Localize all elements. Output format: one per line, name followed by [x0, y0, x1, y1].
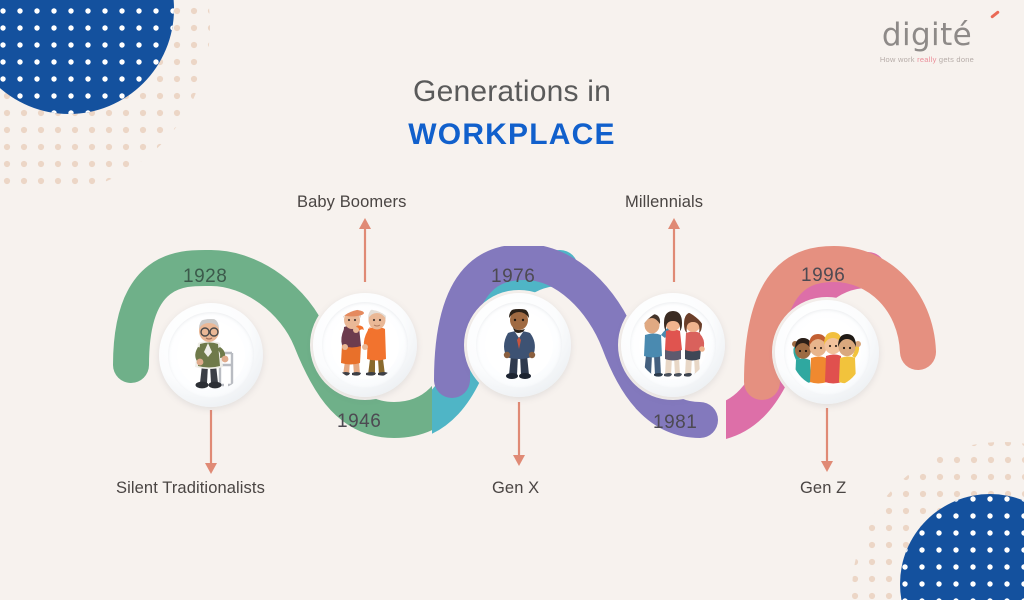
label-millennials: Millennials	[625, 193, 703, 212]
year-label-millennials: 1981	[653, 412, 697, 434]
arrow-gen-x	[506, 402, 532, 468]
label-silent-traditionalists: Silent Traditionalists	[116, 479, 265, 498]
year-label-baby-boomers: 1946	[337, 411, 381, 433]
arrow-baby-boomers	[352, 216, 378, 282]
medallion-baby-boomers[interactable]	[313, 293, 417, 397]
medallion-gen-x[interactable]	[467, 293, 571, 397]
businessman-in-suit-icon	[483, 309, 555, 381]
label-gen-x: Gen X	[492, 479, 539, 498]
medallion-silent-traditionalists[interactable]	[159, 303, 263, 407]
elderly-couple-icon	[329, 309, 401, 381]
label-gen-z: Gen Z	[800, 479, 846, 498]
elderly-man-with-walker-icon	[175, 319, 247, 391]
arrow-millennials	[661, 216, 687, 282]
medallion-gen-z[interactable]	[775, 300, 879, 404]
year-label-gen-x: 1976	[491, 266, 535, 288]
diverse-kids-group-icon	[791, 316, 863, 388]
arrow-gen-z	[814, 408, 840, 474]
year-label-gen-z: 1996	[801, 265, 845, 287]
infographic-canvas: digité How work really gets done Generat…	[0, 0, 1024, 600]
arrow-silent-traditionalists	[198, 410, 224, 476]
label-baby-boomers: Baby Boomers	[297, 193, 406, 212]
young-adults-group-icon	[637, 309, 709, 381]
year-label-silent-traditionalists: 1928	[183, 266, 227, 288]
medallion-millennials[interactable]	[621, 293, 725, 397]
